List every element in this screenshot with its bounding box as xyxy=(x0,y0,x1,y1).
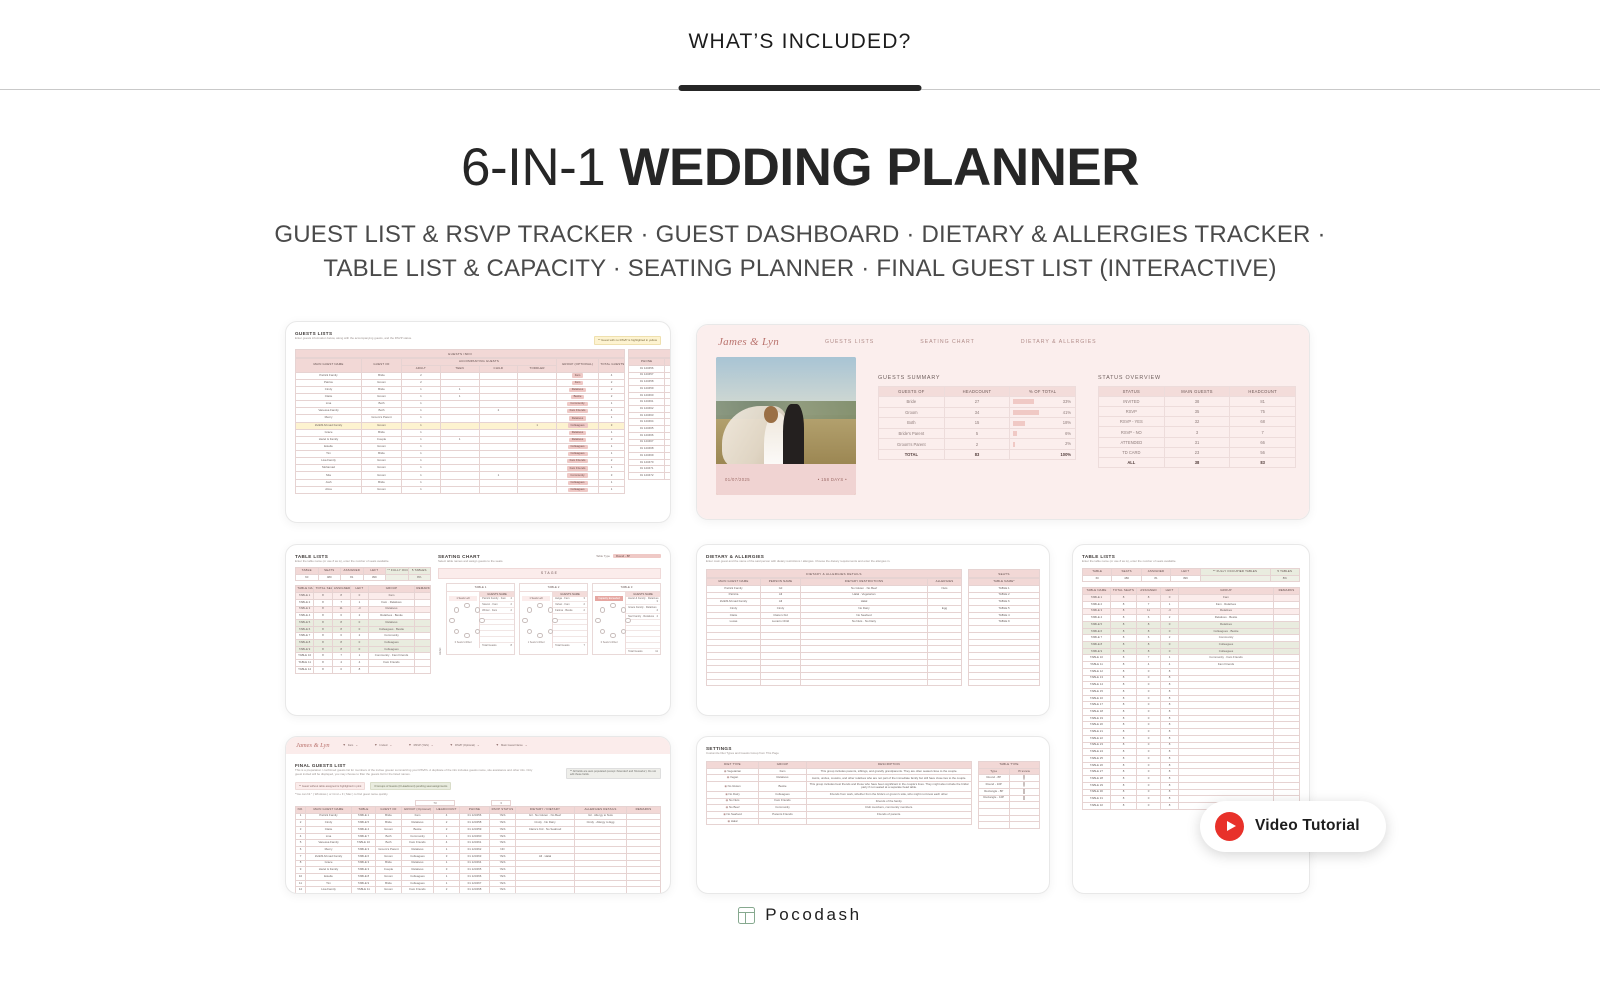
cell-group[interactable] xyxy=(1179,742,1274,749)
cell-remarks[interactable] xyxy=(1274,715,1300,722)
cell-remarks[interactable] xyxy=(627,880,661,887)
cell-group[interactable]: Colleagues xyxy=(369,640,415,647)
table-row[interactable]: TABLE 2 xyxy=(969,592,1040,599)
table-row[interactable]: Round - 10P xyxy=(979,782,1040,789)
cell-diet[interactable]: Halal · Vegetarian xyxy=(801,592,928,599)
table-row[interactable]: TABLE 26 8 0 8 xyxy=(1083,762,1300,769)
cell-group[interactable]: Community xyxy=(557,472,599,479)
settings-table[interactable]: DIET TYPE GROUP DESCRIPTION ◉ Vegetarian… xyxy=(706,761,972,825)
cell-remarks[interactable] xyxy=(415,613,431,620)
table-row[interactable]: TABLE 3 8 11 -3 Relatives xyxy=(1083,608,1300,615)
cell-remarks[interactable] xyxy=(415,606,431,613)
cell-group[interactable] xyxy=(1179,675,1274,682)
table-row-empty[interactable] xyxy=(707,673,962,680)
cell-remarks[interactable] xyxy=(1274,782,1300,789)
table-row[interactable]: Patricia All Halal · Vegetarian xyxy=(707,592,962,599)
table-row[interactable]: TABLE 27 8 0 8 xyxy=(1083,769,1300,776)
table-row[interactable]: TABLE 1 8 8 0 Fam xyxy=(1083,595,1300,602)
cell-remarks[interactable] xyxy=(627,867,661,874)
table-row[interactable]: ◉ No Dairy Colleagues Friends from work,… xyxy=(707,791,972,798)
table-row[interactable]: Cindy Cindy No Dairy Egg xyxy=(707,606,962,613)
cell-group[interactable] xyxy=(1179,769,1274,776)
cell-group[interactable]: Fam xyxy=(1179,595,1274,602)
table-row[interactable]: ◉ No Beef Community Club members, commun… xyxy=(707,805,972,812)
cell-diet-type[interactable]: ◉ No Seafood xyxy=(707,811,759,818)
cell-remarks[interactable] xyxy=(1274,601,1300,608)
table-row[interactable]: Patrick Family Gil No Gluten · No Beef N… xyxy=(707,585,962,592)
cell-remarks[interactable] xyxy=(1274,615,1300,622)
cell-group[interactable] xyxy=(1179,682,1274,689)
table-row[interactable]: Rectangle - 10P xyxy=(979,795,1040,802)
cell-remarks[interactable] xyxy=(1274,608,1300,615)
table-row-empty[interactable] xyxy=(969,673,1040,680)
cell-remarks[interactable] xyxy=(627,860,661,867)
seat-map[interactable]: Capacity Exceeded 0 Seats Unfilled xyxy=(593,592,625,654)
table-row-empty[interactable] xyxy=(969,639,1040,646)
table-row[interactable]: TABLE 14 8 0 8 xyxy=(1083,682,1300,689)
table-row[interactable]: Mercy Groom's Parent 1 Relatives 1 xyxy=(296,415,625,422)
cell-group[interactable]: Colleagues xyxy=(1179,648,1274,655)
cell-group[interactable] xyxy=(1179,789,1274,796)
cell-remarks[interactable] xyxy=(1274,695,1300,702)
table-row[interactable]: 2 Cindy TABLE 5 Bride Relatives 2 01 123… xyxy=(296,820,661,827)
cell-group[interactable] xyxy=(1179,668,1274,675)
seat-dot[interactable] xyxy=(475,607,480,612)
table-row[interactable]: 01 123464 grace@gmail.com London xyxy=(629,419,672,426)
cell-group[interactable] xyxy=(1179,735,1274,742)
cell-group[interactable]: Fam Friends xyxy=(557,408,599,415)
table-row[interactable]: TABLE 25 8 0 8 xyxy=(1083,755,1300,762)
cell-remarks[interactable] xyxy=(1274,668,1300,675)
table-row[interactable]: 4 Lina TABLE 7 Both Community 1 01 12346… xyxy=(296,833,661,840)
table-row-empty[interactable] xyxy=(707,679,962,686)
table-row-empty[interactable] xyxy=(707,659,962,666)
table-row[interactable]: 3 Claire TABLE 4 Groom Bestie 2 01 12345… xyxy=(296,826,661,833)
cell-group[interactable]: Fam xyxy=(557,379,599,386)
table-row[interactable]: TABLE 4 8 6 2 Relatives · Bestie xyxy=(1083,615,1300,622)
table-row[interactable]: Lisa Family Groom 1 Fam Friends 2 xyxy=(296,458,625,465)
table-row[interactable]: 11 Tim TABLE 9 Bride Colleagues 1 01 123… xyxy=(296,880,661,887)
filter-chip[interactable]: ▼ RSVP (YES) ⌄ xyxy=(408,743,433,747)
cell-remarks[interactable] xyxy=(1274,769,1300,776)
cell-remarks[interactable] xyxy=(1274,776,1300,783)
cell-group[interactable]: Relatives xyxy=(557,436,599,443)
cell-group[interactable]: Relatives xyxy=(369,619,415,626)
cell-group[interactable]: Relatives xyxy=(1179,608,1274,615)
table-row[interactable]: TABLE 3 8 11 -3 Relatives xyxy=(296,606,431,613)
seat-dot[interactable] xyxy=(548,629,553,634)
filter-chip[interactable]: ▼ RSVP (Optional) ⌄ xyxy=(450,743,480,747)
table-row[interactable]: Claire Claire's Kid No Seafood xyxy=(707,612,962,619)
cell-group[interactable] xyxy=(1179,702,1274,709)
table-row[interactable]: TABLE 18 8 0 8 xyxy=(1083,709,1300,716)
seating-tables-list[interactable]: TABLE NAME TOTAL SEATS ASSIGNED LEFT GRO… xyxy=(295,585,431,673)
cell-group[interactable] xyxy=(1179,782,1274,789)
cell-group[interactable]: Relatives · Bestie xyxy=(369,613,415,620)
cell-group[interactable]: Fam · Relatives xyxy=(1179,601,1274,608)
cell-remarks[interactable] xyxy=(627,887,661,894)
cell-group[interactable]: Community · Fam Friends xyxy=(369,653,415,660)
table-row[interactable]: Zulkifli Ahmad Family Groom 1 1 Colleagu… xyxy=(296,422,625,429)
filter-chip[interactable]: ▼ Fam ⌄ xyxy=(343,743,359,747)
table-row[interactable]: 8 Grace TABLE 3 Bride Relatives 1 01 123… xyxy=(296,860,661,867)
cell-group[interactable] xyxy=(1179,776,1274,783)
cell-remarks[interactable] xyxy=(1274,642,1300,649)
cell-group[interactable] xyxy=(1179,755,1274,762)
table-row-empty[interactable] xyxy=(979,815,1040,822)
cell-group[interactable]: Community xyxy=(369,633,415,640)
seat-dot[interactable] xyxy=(527,607,532,612)
final-guest-body[interactable]: 1 Patrick Family TABLE 1 Bride Fam 4 01 … xyxy=(296,813,661,893)
table-row[interactable]: TABLE 4 8 6 2 Relatives · Bestie xyxy=(296,613,431,620)
table-row[interactable]: 01 123460 lina@hotmail.com US xyxy=(629,392,672,399)
table-row[interactable]: ◉ No Nuts Fam Friends Friends of the fam… xyxy=(707,798,972,805)
cell-group[interactable]: Relatives xyxy=(557,386,599,393)
table-row[interactable]: 01 123469 moh@gmail.com Leeds xyxy=(629,452,672,459)
table-row[interactable]: 01 123457 fel@gmail.com London xyxy=(629,372,672,379)
dietary-body[interactable]: Patrick Family Gil No Gluten · No Beef N… xyxy=(707,585,962,686)
table-row[interactable]: Zulkifli Ahmad Family All Halal xyxy=(707,599,962,606)
seat-dot[interactable] xyxy=(600,607,605,612)
seating-table-box[interactable]: TABLE 1 1 Seats Left 0 Seats Unfilled GU… xyxy=(446,583,515,655)
table-row[interactable]: TABLE 5 8 8 0 Relatives xyxy=(296,619,431,626)
table-row[interactable]: ◉ Vegetarian Fam This group includes par… xyxy=(707,768,972,775)
cell-remarks[interactable] xyxy=(415,666,431,673)
cell-group[interactable]: Colleagues xyxy=(1179,642,1274,649)
table-row[interactable]: 01 123456 pat@gmail.com London xyxy=(629,365,672,372)
cell-remarks[interactable] xyxy=(415,660,431,667)
table-type-select[interactable]: Round - 8P xyxy=(613,554,661,559)
table-row[interactable]: TABLE 13 8 0 8 xyxy=(1083,675,1300,682)
table-row[interactable]: TABLE 29 8 0 8 xyxy=(1083,782,1300,789)
cell-group[interactable]: Fam Friends xyxy=(369,660,415,667)
cell-remarks[interactable] xyxy=(627,853,661,860)
table-row-empty[interactable] xyxy=(979,822,1040,829)
cell-diet[interactable]: No Dairy xyxy=(801,606,928,613)
contacts-body[interactable]: 01 123456 pat@gmail.com London 01 123457… xyxy=(629,365,672,479)
seat-dot[interactable] xyxy=(449,618,454,623)
seat-dot[interactable] xyxy=(621,629,626,634)
settings-body[interactable]: ◉ Vegetarian Fam This group includes par… xyxy=(707,768,972,825)
cell-remarks[interactable] xyxy=(627,847,661,854)
table-row[interactable]: ◉ Vegan Relatives Aunts, uncles, cousins… xyxy=(707,775,972,782)
table-row[interactable]: Patrice Groom 2 Fam 2 xyxy=(296,379,625,386)
table-row[interactable]: TABLE 9 8 8 0 Colleagues xyxy=(1083,648,1300,655)
table-row[interactable]: Claire Groom 1 1 Bestie 2 xyxy=(296,393,625,400)
cell-group[interactable]: Relatives xyxy=(1179,621,1274,628)
seat-dot[interactable] xyxy=(464,603,469,608)
seating-tables-body[interactable]: TABLE 1 8 8 0 Fam TABLE 2 8 7 1 Fam · Re… xyxy=(296,593,431,673)
cell-group[interactable] xyxy=(1179,695,1274,702)
table-row[interactable]: 9 Hazel & Family TABLE 3 Couple Relative… xyxy=(296,867,661,874)
cell-group[interactable]: Colleagues xyxy=(557,443,599,450)
table-row[interactable]: TABLE 5 xyxy=(969,606,1040,613)
table-row[interactable]: TABLE 1 8 8 0 Fam xyxy=(296,593,431,600)
table-row-empty[interactable] xyxy=(969,679,1040,686)
table-row[interactable]: 01 123468 lisa@gmail.com London xyxy=(629,446,672,453)
card-guest-dashboard[interactable]: James & Lyn GUESTS LISTS SEATING CHART D… xyxy=(696,324,1310,520)
seat-dot[interactable] xyxy=(595,618,600,623)
table-row[interactable]: TABLE 5 8 8 0 Relatives xyxy=(1083,621,1300,628)
cell-remarks[interactable] xyxy=(1274,635,1300,642)
table-row[interactable]: Round - 8P xyxy=(979,775,1040,782)
final-guest-filters[interactable]: ▼ Fam ⌄ ▼ Invited ⌄ ▼ RSVP (YES) ⌄ ▼ RSV… xyxy=(343,743,528,747)
seat-dot[interactable] xyxy=(527,629,532,634)
table-row[interactable]: Cindy Bride 1 1 Relatives 2 xyxy=(296,386,625,393)
cell-remarks[interactable] xyxy=(415,646,431,653)
table-row[interactable]: TABLE 16 8 0 8 xyxy=(1083,695,1300,702)
table-row[interactable]: 01 123465 hazel@gmail.com Leeds xyxy=(629,426,672,433)
contacts-table[interactable]: PHONE EMAIL CITY / ADDR. 01 123456 pat@g… xyxy=(628,358,671,480)
table-row[interactable]: TABLE 11 8 4 4 Fam Friends xyxy=(1083,662,1300,669)
table-row[interactable]: 01 123461 ven@hotmail.com Vancouver xyxy=(629,399,672,406)
filter-chip[interactable]: ▼ Main Guest Name ⌄ xyxy=(496,743,528,747)
cell-remarks[interactable] xyxy=(415,633,431,640)
cell-remarks[interactable] xyxy=(1274,709,1300,716)
dashboard-tab-dietary-allergies[interactable]: DIETARY & ALLERGIES xyxy=(1021,339,1097,345)
cell-group[interactable]: Fam xyxy=(557,372,599,379)
table-row[interactable]: 7 Zulkifli Ahmad Family TABLE 6 Groom Co… xyxy=(296,853,661,860)
cell-remarks[interactable] xyxy=(415,653,431,660)
card-settings[interactable]: SETTINGS Customize Diet Types and Guests… xyxy=(696,736,1050,894)
card-seating-planner[interactable]: TABLE LISTS Enter the table name (or use… xyxy=(285,544,671,716)
table-row[interactable]: TABLE 1 xyxy=(969,585,1040,592)
table-row[interactable]: TABLE 2 8 7 1 Fam · Relatives xyxy=(296,599,431,606)
table-row[interactable]: ◉ Halal xyxy=(707,818,972,825)
cell-remarks[interactable] xyxy=(415,640,431,647)
cell-remarks[interactable] xyxy=(1274,675,1300,682)
card-guest-list[interactable]: GUESTS LISTS Enter guests information be… xyxy=(285,321,671,523)
cell-diet[interactable]: No Seafood xyxy=(801,612,928,619)
dashboard-nav[interactable]: James & Lyn GUESTS LISTS SEATING CHART D… xyxy=(710,336,1296,357)
table-row[interactable]: TABLE 4 xyxy=(969,612,1040,619)
cell-group[interactable]: Relatives · Bestie xyxy=(1179,615,1274,622)
table-row-empty[interactable] xyxy=(969,666,1040,673)
table-row[interactable]: TABLE 24 8 0 8 xyxy=(1083,749,1300,756)
cell-group[interactable] xyxy=(1179,729,1274,736)
cell-diet-type[interactable]: ◉ Halal xyxy=(707,818,759,825)
cell-group[interactable]: Relatives xyxy=(557,415,599,422)
table-row[interactable]: Vanessa Family Both 1 2 Fam Friends 4 xyxy=(296,408,625,415)
table-row[interactable]: TABLE 8 8 8 0 Colleagues xyxy=(296,640,431,647)
card-dietary-allergies[interactable]: DIETARY & ALLERGIES Enter main guest and… xyxy=(696,544,1050,716)
cell-remarks[interactable] xyxy=(1274,688,1300,695)
seat-dot[interactable] xyxy=(522,618,527,623)
cell-remarks[interactable] xyxy=(415,626,431,633)
dietary-table[interactable]: MAIN GUEST NAME PERSON NAME DIETARY REST… xyxy=(706,578,962,686)
table-row[interactable]: 6 Mercy TABLE 3 Groom's Parent Relatives… xyxy=(296,847,661,854)
table-row[interactable]: 10 Estelle TABLE 8 Groom Colleagues 1 01… xyxy=(296,873,661,880)
table-row-empty[interactable] xyxy=(707,632,962,639)
table-row[interactable]: ◉ No Seafood Parents Friends Friends of … xyxy=(707,811,972,818)
cell-remarks[interactable] xyxy=(1274,662,1300,669)
table-row[interactable]: 01 123466 est@gmail.com London xyxy=(629,432,672,439)
cell-diet-type[interactable]: ◉ No Dairy xyxy=(707,791,759,798)
cell-remarks[interactable] xyxy=(1274,735,1300,742)
table-row[interactable]: Grace Bride 1 Relatives 1 xyxy=(296,429,625,436)
table-row[interactable]: 01 123467 tim@gmail.com London xyxy=(629,439,672,446)
table-row[interactable]: Patrick Family Bride 2 Fam 4 xyxy=(296,372,625,379)
cell-remarks[interactable] xyxy=(627,813,661,820)
dietary-seats-table[interactable]: TABLE NAME* TABLE 1TABLE 2TABLE 6TABLE 5… xyxy=(968,578,1040,686)
cell-group[interactable] xyxy=(1179,749,1274,756)
cell-group[interactable]: Fam xyxy=(369,593,415,600)
table-row[interactable]: TABLE 19 8 0 8 xyxy=(1083,715,1300,722)
seat-dot[interactable] xyxy=(479,618,484,623)
table-row[interactable]: TABLE 22 8 0 8 xyxy=(1083,735,1300,742)
seating-guest-row[interactable]: Hazel & Family · Relatives3 xyxy=(626,597,660,606)
cell-remarks[interactable] xyxy=(415,593,431,600)
table-row[interactable]: TABLE 12 8 0 8 xyxy=(1083,668,1300,675)
table-row[interactable]: ◉ No Gluten Bestie This group includes b… xyxy=(707,782,972,792)
cell-group[interactable]: Community xyxy=(557,401,599,408)
table-row-empty[interactable] xyxy=(979,802,1040,809)
cell-remarks[interactable] xyxy=(1274,789,1300,796)
table-type-body[interactable]: Round - 8P Round - 10P Rectangle - 8P Re… xyxy=(979,775,1040,829)
final-guest-toolbar[interactable]: James & Lyn ▼ Fam ⌄ ▼ Invited ⌄ ▼ RSVP (… xyxy=(286,737,670,754)
cell-remarks[interactable] xyxy=(1274,628,1300,635)
video-tutorial-badge[interactable]: Video Tutorial xyxy=(1200,801,1386,852)
table-row[interactable]: TABLE 10 8 7 1 Community · Fam Friends xyxy=(1083,655,1300,662)
table-row[interactable]: Lina Both 1 Community 1 xyxy=(296,401,625,408)
seat-dot[interactable] xyxy=(610,603,615,608)
table-row[interactable]: Tim Bride 1 Colleagues 1 xyxy=(296,451,625,458)
seat-dot[interactable] xyxy=(454,629,459,634)
table-row[interactable]: Mohamad Groom 1 Fam Friends 1 xyxy=(296,465,625,472)
table-row[interactable]: 01 123463 zulkifli@gmail.com Bristol xyxy=(629,412,672,419)
cell-diet[interactable]: No Nuts · No Dairy xyxy=(801,619,928,626)
table-row[interactable]: Rectangle - 8P xyxy=(979,788,1040,795)
seating-guest-row[interactable]: Grace Family · Relatives4 xyxy=(626,605,660,614)
table-row[interactable]: Alma Groom 1 Colleagues 1 xyxy=(296,486,625,493)
table-row[interactable]: TABLE 30 8 0 8 xyxy=(1083,789,1300,796)
table-row-empty[interactable] xyxy=(707,646,962,653)
table-lists-table[interactable]: TABLE NAME TOTAL SEATS ASSIGNED LEFT GRO… xyxy=(1082,587,1300,809)
cell-remarks[interactable] xyxy=(627,840,661,847)
cell-remarks[interactable] xyxy=(627,820,661,827)
table-row[interactable]: TABLE 11 8 4 4 Fam Friends xyxy=(296,660,431,667)
cell-group[interactable]: Colleagues xyxy=(369,646,415,653)
cell-remarks[interactable] xyxy=(1274,755,1300,762)
cell-group[interactable]: Fam Friends xyxy=(1179,662,1274,669)
cell-remarks[interactable] xyxy=(1274,682,1300,689)
seating-table-box[interactable]: TABLE 2 1 Seats Left 1 Seats Unfilled GU… xyxy=(519,583,588,655)
cell-remarks[interactable] xyxy=(415,599,431,606)
seat-dot[interactable] xyxy=(537,603,542,608)
table-row[interactable]: Lucas Lucas's Child No Nuts · No Dairy xyxy=(707,619,962,626)
table-row-empty[interactable] xyxy=(969,646,1040,653)
guest-info-table[interactable]: MAIN GUEST NAME GUEST OF ACCOMPANYING GU… xyxy=(295,358,625,494)
table-row[interactable]: TABLE 6 8 8 0 Colleagues · Bestie xyxy=(1083,628,1300,635)
cell-group[interactable]: Community xyxy=(1179,635,1274,642)
seat-dot[interactable] xyxy=(610,633,615,638)
table-row[interactable]: TABLE 6 8 8 0 Colleagues · Bestie xyxy=(296,626,431,633)
seat-dot[interactable] xyxy=(537,633,542,638)
cell-diet-type[interactable]: ◉ Vegan xyxy=(707,775,759,782)
cell-remarks[interactable] xyxy=(1274,621,1300,628)
cell-group[interactable] xyxy=(1179,715,1274,722)
cell-group[interactable]: Relatives xyxy=(369,606,415,613)
table-row-empty[interactable] xyxy=(707,626,962,633)
table-row-empty[interactable] xyxy=(969,659,1040,666)
table-row-empty[interactable] xyxy=(979,808,1040,815)
cell-group[interactable]: Bestie xyxy=(557,393,599,400)
cell-remarks[interactable] xyxy=(415,619,431,626)
cell-diet[interactable]: Halal xyxy=(801,599,928,606)
table-row[interactable]: TABLE 17 8 0 8 xyxy=(1083,702,1300,709)
cell-group[interactable]: Colleagues · Bestie xyxy=(1179,628,1274,635)
table-row[interactable]: 5 Vanessa Family TABLE 10 Both Fam Frien… xyxy=(296,840,661,847)
cell-remarks[interactable] xyxy=(1274,722,1300,729)
table-lists-body[interactable]: TABLE 1 8 8 0 Fam TABLE 2 8 7 1 Fam · Re… xyxy=(1083,595,1300,810)
cell-group[interactable]: Fam Friends xyxy=(557,458,599,465)
table-row[interactable]: TABLE 9 8 8 0 Colleagues xyxy=(296,646,431,653)
seat-map[interactable]: 1 Seats Left 0 Seats Unfilled xyxy=(447,592,479,648)
table-row[interactable]: 01 123471 josh@gmail.com London xyxy=(629,466,672,473)
final-guest-table[interactable]: NO. MAIN GUEST NAME TABLE GUEST OF GROUP… xyxy=(295,806,661,894)
guest-info-body[interactable]: Patrick Family Bride 2 Fam 4 Patrice Gro… xyxy=(296,372,625,493)
cell-remarks[interactable] xyxy=(1274,742,1300,749)
seat-dot[interactable] xyxy=(625,618,630,623)
cell-group[interactable] xyxy=(369,666,415,673)
cell-remarks[interactable] xyxy=(1274,655,1300,662)
cell-remarks[interactable] xyxy=(627,873,661,880)
cell-remarks[interactable] xyxy=(627,826,661,833)
table-row[interactable]: TABLE 2 8 7 1 Fam · Relatives xyxy=(1083,601,1300,608)
card-final-guest-list[interactable]: James & Lyn ▼ Fam ⌄ ▼ Invited ⌄ ▼ RSVP (… xyxy=(285,736,671,894)
table-row-empty[interactable] xyxy=(969,632,1040,639)
table-row[interactable]: Hazel & Family Couple 1 1 Relatives 3 xyxy=(296,436,625,443)
cell-diet-type[interactable]: ◉ Vegetarian xyxy=(707,768,759,775)
cell-group[interactable]: Fam Friends xyxy=(557,465,599,472)
table-row-empty[interactable] xyxy=(707,666,962,673)
cell-remarks[interactable] xyxy=(1274,749,1300,756)
table-type-table[interactable]: TABLE TYPE Type Preview Round - 8P Round… xyxy=(978,761,1040,829)
table-row-empty[interactable] xyxy=(707,639,962,646)
table-row[interactable]: TABLE 15 8 0 8 xyxy=(1083,688,1300,695)
table-row[interactable]: Estelle Groom 1 Colleagues 1 xyxy=(296,443,625,450)
cell-remarks[interactable] xyxy=(1274,729,1300,736)
seat-dot[interactable] xyxy=(475,629,480,634)
cell-diet-type[interactable]: ◉ No Nuts xyxy=(707,798,759,805)
cell-group[interactable]: Relatives xyxy=(557,429,599,436)
table-row[interactable]: TABLE 7 8 6 2 Community xyxy=(296,633,431,640)
table-row[interactable]: TABLE 7 8 6 2 Community xyxy=(1083,635,1300,642)
table-row-empty[interactable] xyxy=(969,626,1040,633)
seating-table-box[interactable]: TABLE 3 Capacity Exceeded 0 Seats Unfill… xyxy=(592,583,661,655)
table-row[interactable]: 01 123458 cin@gmail.com Manchester xyxy=(629,379,672,386)
cell-group[interactable] xyxy=(1179,688,1274,695)
table-row-empty[interactable] xyxy=(969,652,1040,659)
cell-diet-type[interactable]: ◉ No Beef xyxy=(707,805,759,812)
dietary-seats-body[interactable]: TABLE 1TABLE 2TABLE 6TABLE 5TABLE 4TABLE… xyxy=(969,585,1040,686)
cell-remarks[interactable] xyxy=(1274,762,1300,769)
table-row[interactable]: TABLE 20 8 0 8 xyxy=(1083,722,1300,729)
cell-group[interactable]: Colleagues xyxy=(557,451,599,458)
table-row[interactable]: 01 123462 mercy@gmail.com Bristol xyxy=(629,406,672,413)
table-row[interactable]: 01 123459 claire@gmail.com London xyxy=(629,385,672,392)
seat-dot[interactable] xyxy=(621,607,626,612)
cell-group[interactable]: Colleagues xyxy=(557,422,599,429)
table-row[interactable]: 12 Lisa Family TABLE 11 Groom Fam Friend… xyxy=(296,887,661,894)
cell-group[interactable]: Colleagues xyxy=(557,479,599,486)
cell-group[interactable]: Community · Fam Friends xyxy=(1179,655,1274,662)
cell-group[interactable]: Colleagues xyxy=(557,486,599,493)
seat-map[interactable]: 1 Seats Left 1 Seats Unfilled xyxy=(520,592,552,648)
table-row[interactable]: TABLE 6 xyxy=(969,599,1040,606)
cell-diet-type[interactable]: ◉ No Gluten xyxy=(707,782,759,792)
filter-chip[interactable]: ▼ Invited ⌄ xyxy=(374,743,392,747)
